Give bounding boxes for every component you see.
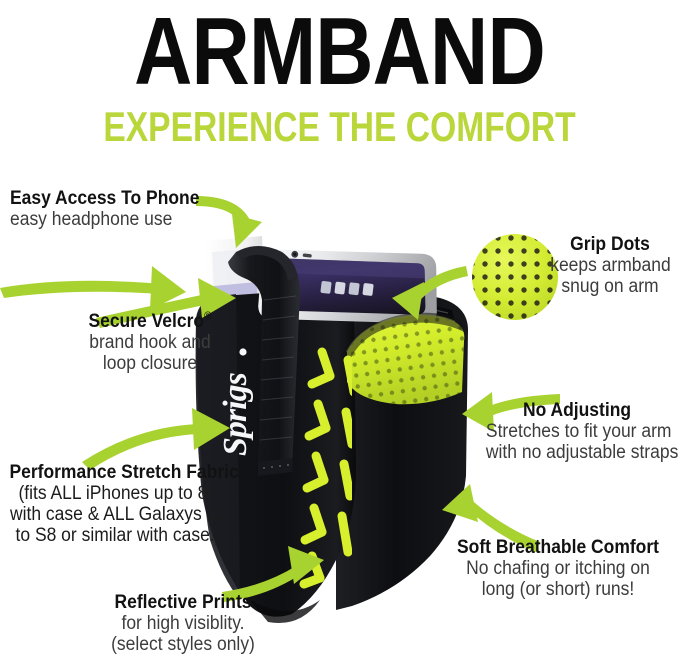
page-title: ARMBAND	[54, 2, 624, 102]
registered-trademark-icon: ®	[204, 311, 211, 323]
callout-heading-text: Secure Velcro	[88, 311, 204, 332]
arrow-stretch-fabric	[82, 408, 230, 470]
inserted-phone: NG	[255, 234, 444, 338]
callout-secure-velcro: Secure Velcro® brand hook and loop closu…	[56, 311, 244, 374]
interior-grip-lining	[340, 310, 480, 410]
infographic-page: NG	[0, 0, 679, 664]
callout-body-line: loop closure	[64, 353, 237, 374]
callout-heading: Soft Breathable Comfort	[449, 537, 666, 558]
callout-body-line: with no adjustable straps	[486, 442, 668, 463]
callout-body-line: snug on arm	[550, 276, 670, 297]
callout-body-line: with case & ALL Galaxys up	[9, 504, 226, 525]
callout-grip-dots: Grip Dots keeps armband snug on arm	[545, 234, 675, 297]
callout-reflective-prints: Reflective Prints for high visiblity. (s…	[78, 592, 288, 655]
svg-text:Sprigs: Sprigs	[217, 372, 254, 456]
callout-heading: Easy Access To Phone	[10, 188, 194, 209]
callout-no-adjusting: No Adjusting Stretches to fit your arm w…	[478, 400, 676, 463]
reflective-prints	[304, 352, 354, 584]
callout-heading: Performance Stretch Fabric	[9, 462, 226, 483]
callout-body-line: No chafing or itching on	[449, 558, 666, 579]
callout-soft-breathable-comfort: Soft Breathable Comfort No chafing or it…	[440, 537, 676, 600]
callout-body-line: for high visiblity.	[86, 613, 279, 634]
page-subtitle: EXPERIENCE THE COMFORT	[68, 104, 611, 150]
callout-body-line: easy headphone use	[10, 209, 194, 230]
callout-performance-stretch-fabric: Performance Stretch Fabric (fits ALL iPh…	[0, 462, 236, 546]
callout-heading: Secure Velcro®	[64, 311, 237, 332]
callout-heading: No Adjusting	[486, 400, 668, 421]
callout-body-line: (select styles only)	[86, 634, 279, 655]
callout-heading: Reflective Prints	[86, 592, 279, 613]
arrow-grip-dots	[392, 266, 468, 320]
callout-body-line: to S8 or similar with case.)	[9, 525, 226, 546]
callout-easy-access-to-phone: Easy Access To Phone easy headphone use	[10, 188, 210, 230]
callout-body-line: brand hook and	[64, 332, 237, 353]
callout-heading: Grip Dots	[550, 234, 670, 255]
callout-body-line: long (or short) runs!	[449, 579, 666, 600]
callout-body-line: keeps armband	[550, 255, 670, 276]
callout-body-line: (fits ALL iPhones up to 8+	[9, 483, 226, 504]
svg-text:NG: NG	[273, 265, 284, 273]
phone-pocket-opening	[262, 286, 456, 326]
callout-body-line: Stretches to fit your arm	[486, 421, 668, 442]
arrow-easy-access-pocket	[0, 266, 186, 310]
